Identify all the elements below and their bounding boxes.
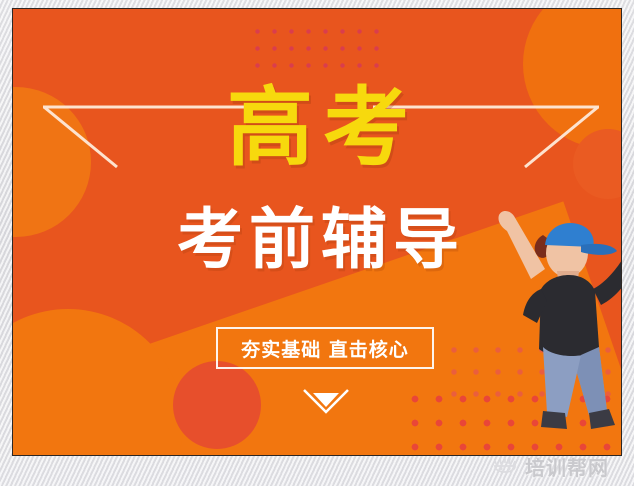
watermark-text: 培训帮网 (525, 452, 609, 481)
watermark: 培训帮网 (492, 452, 609, 481)
student-figure-illustration (481, 197, 622, 456)
tagline-text: 夯实基础 直击核心 (241, 335, 409, 362)
page-canvas: 高考 考前辅导 夯实基础 直击核心 (0, 0, 634, 486)
dot-grid-top-icon (249, 23, 381, 73)
page-title-main: 高考 (13, 85, 622, 171)
chevron-down-icon (301, 387, 351, 417)
tagline-box: 夯实基础 直击核心 (216, 327, 434, 369)
promo-poster: 高考 考前辅导 夯实基础 直击核心 (12, 8, 622, 456)
decorative-circle-bottom-left (12, 309, 183, 456)
decorative-circle-pink (173, 361, 261, 449)
sun-face-icon (492, 455, 518, 479)
